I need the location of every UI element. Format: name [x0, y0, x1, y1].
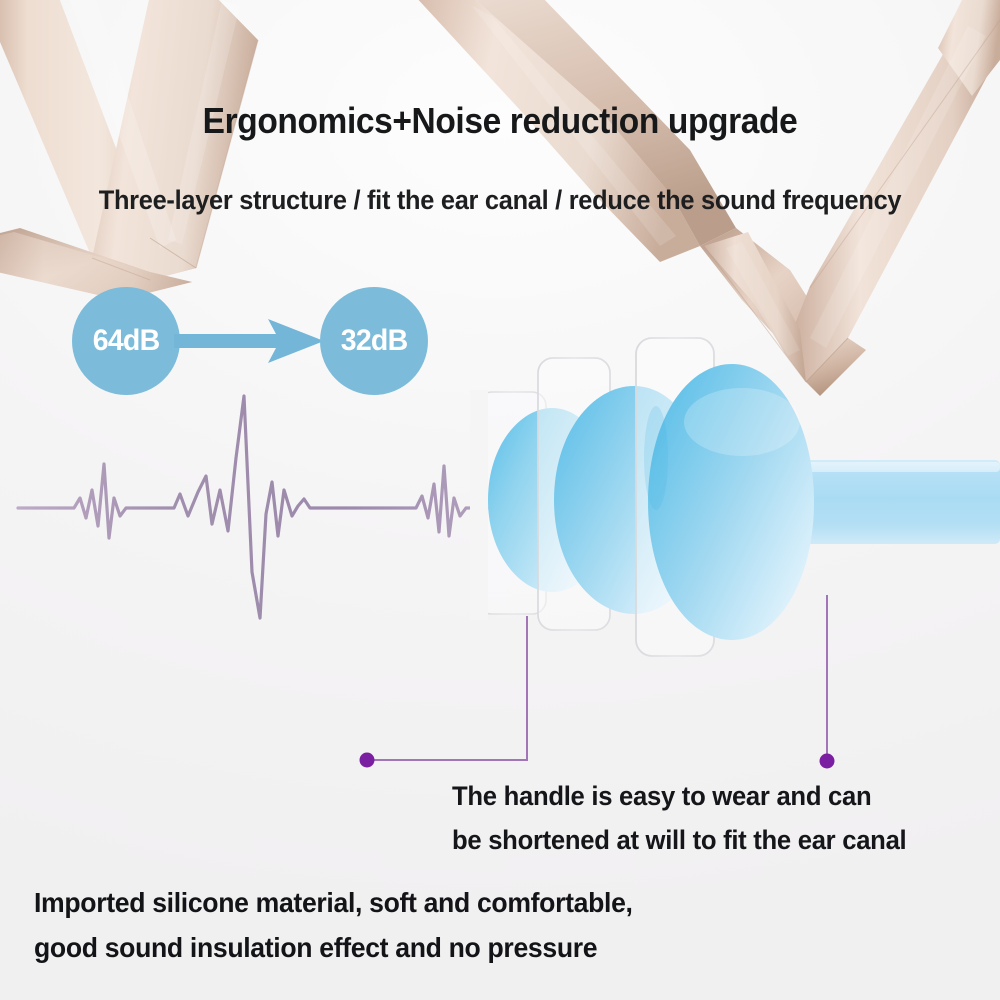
noise-reduction-badges: 64dB 32dB	[72, 287, 442, 397]
callout-handle-text: The handle is easy to wear and can be sh…	[452, 775, 1000, 862]
footer-line-2: good sound insulation effect and no pres…	[34, 925, 927, 970]
callout-handle-line-2: be shortened at will to fit the ear cana…	[452, 819, 973, 863]
leader-dot-handle	[360, 753, 375, 768]
db-after-badge: 32dB	[320, 287, 428, 395]
leader-dot-stem	[820, 754, 835, 769]
arrow-right-icon	[172, 317, 332, 365]
callout-handle-line-1: The handle is easy to wear and can	[452, 775, 973, 819]
product-infographic: Ergonomics+Noise reduction upgrade Three…	[0, 0, 1000, 1000]
leader-line-handle	[372, 616, 527, 760]
footer-line-1: Imported silicone material, soft and com…	[34, 880, 927, 925]
page-title: Ergonomics+Noise reduction upgrade	[35, 100, 965, 142]
page-subtitle: Three-layer structure / fit the ear cana…	[30, 185, 970, 216]
db-before-label: 64dB	[93, 324, 160, 358]
db-after-label: 32dB	[341, 324, 408, 358]
footer-note: Imported silicone material, soft and com…	[34, 880, 974, 971]
callout-leader-lines	[330, 580, 890, 790]
db-before-badge: 64dB	[72, 287, 180, 395]
